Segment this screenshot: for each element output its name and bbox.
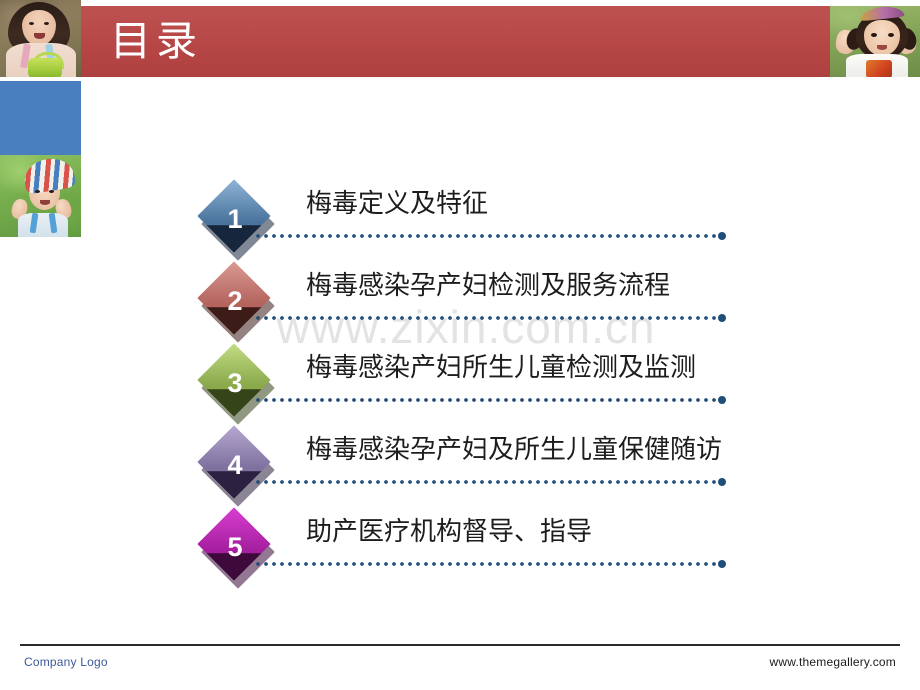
table-of-contents: 1梅毒定义及特征2梅毒感染孕产妇检测及服务流程3梅毒感染产妇所生儿童检测及监测4… <box>0 0 920 690</box>
footer-website-link[interactable]: www.themegallery.com <box>770 655 896 669</box>
connector-end-dot <box>718 232 726 240</box>
toc-item-label: 助产医疗机构督导、指导 <box>306 512 826 552</box>
footer-divider <box>20 644 900 646</box>
toc-item-3[interactable]: 3梅毒感染产妇所生儿童检测及监测 <box>196 336 816 420</box>
toc-item-label: 梅毒感染产妇所生儿童检测及监测 <box>306 348 826 388</box>
dotted-connector <box>254 480 722 484</box>
slide-canvas: 目录 www.zixin.com.cn 1梅毒定义及特征2梅毒感染孕产妇检测及服… <box>0 0 920 690</box>
toc-item-2[interactable]: 2梅毒感染孕产妇检测及服务流程 <box>196 254 816 338</box>
toc-item-4[interactable]: 4梅毒感染孕产妇及所生儿童保健随访 <box>196 418 816 502</box>
diamond-number-2: 2 <box>196 262 276 340</box>
company-logo-label: Company Logo <box>24 655 108 669</box>
diamond-badge-4[interactable]: 4 <box>196 426 276 504</box>
connector-end-dot <box>718 396 726 404</box>
diamond-number-1: 1 <box>196 180 276 258</box>
diamond-badge-1[interactable]: 1 <box>196 180 276 258</box>
diamond-number-4: 4 <box>196 426 276 504</box>
connector-end-dot <box>718 478 726 486</box>
toc-item-5[interactable]: 5助产医疗机构督导、指导 <box>196 500 816 584</box>
toc-item-label: 梅毒感染孕产妇检测及服务流程 <box>306 266 826 306</box>
connector-end-dot <box>718 560 726 568</box>
diamond-badge-3[interactable]: 3 <box>196 344 276 422</box>
dotted-connector <box>254 234 722 238</box>
diamond-badge-5[interactable]: 5 <box>196 508 276 586</box>
toc-item-1[interactable]: 1梅毒定义及特征 <box>196 172 816 256</box>
diamond-badge-2[interactable]: 2 <box>196 262 276 340</box>
diamond-number-5: 5 <box>196 508 276 586</box>
toc-item-label: 梅毒定义及特征 <box>306 184 826 224</box>
connector-end-dot <box>718 314 726 322</box>
dotted-connector <box>254 562 722 566</box>
toc-item-label: 梅毒感染孕产妇及所生儿童保健随访 <box>306 430 826 470</box>
dotted-connector <box>254 316 722 320</box>
diamond-number-3: 3 <box>196 344 276 422</box>
dotted-connector <box>254 398 722 402</box>
